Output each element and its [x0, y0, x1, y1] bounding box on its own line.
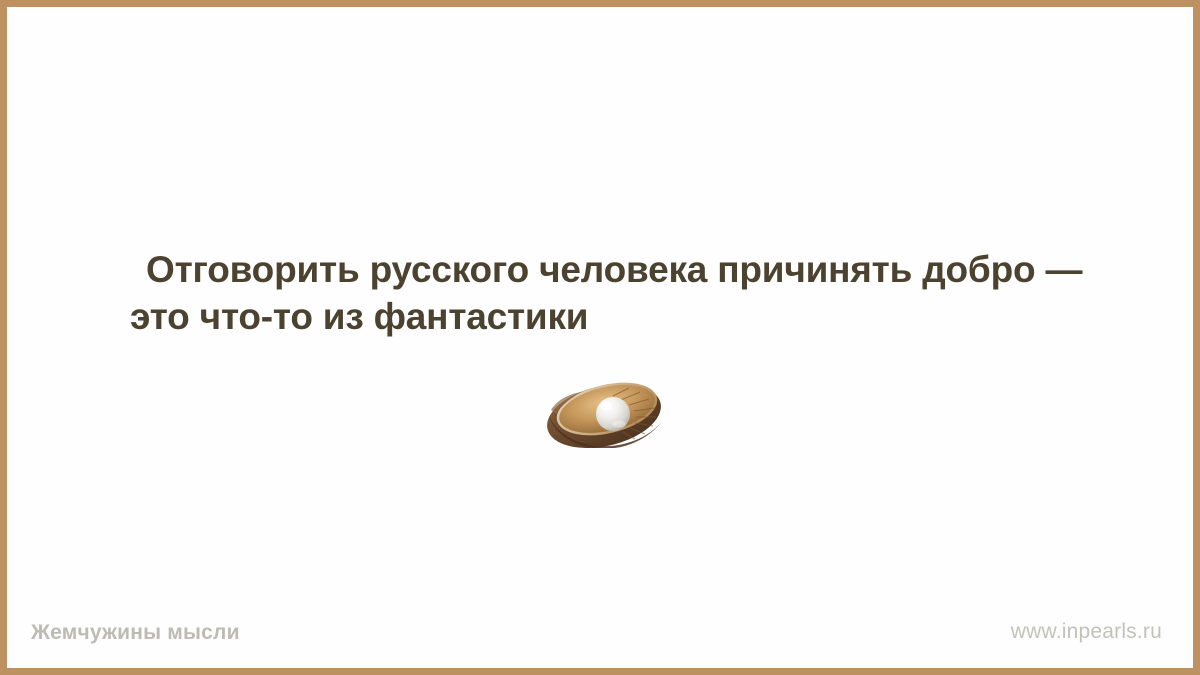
oyster-shell-with-pearl-icon	[541, 376, 671, 448]
site-url-link[interactable]: www.inpearls.ru	[1011, 620, 1162, 644]
quote-block: Отговорить русского человека причинять д…	[130, 246, 1090, 340]
brand-label: Жемчужины мысли	[31, 621, 240, 645]
quote-card: Отговорить русского человека причинять д…	[0, 0, 1200, 675]
quote-text: Отговорить русского человека причинять д…	[130, 246, 1090, 340]
